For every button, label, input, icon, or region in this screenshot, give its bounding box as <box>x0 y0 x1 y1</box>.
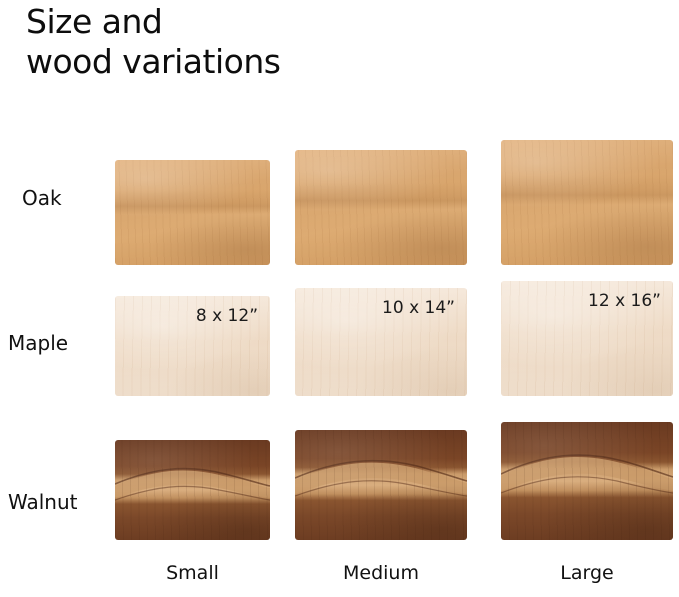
board-maple-medium: 10 x 14” <box>295 288 467 396</box>
walnut-grain-icon <box>295 430 467 540</box>
column-label-large: Large <box>501 562 673 584</box>
walnut-grain-icon <box>115 440 270 540</box>
row-label-maple: Maple <box>8 331 68 355</box>
board-oak-medium <box>295 150 467 265</box>
board-oak-large <box>501 140 673 265</box>
row-label-walnut: Walnut <box>8 490 78 514</box>
row-label-oak: Oak <box>22 186 62 210</box>
board-maple-large: 12 x 16” <box>501 281 673 396</box>
board-walnut-large <box>501 422 673 540</box>
board-oak-small <box>115 160 270 265</box>
column-label-medium: Medium <box>295 562 467 584</box>
size-label-small: 8 x 12” <box>196 306 258 326</box>
walnut-grain-icon <box>501 422 673 540</box>
size-label-medium: 10 x 14” <box>382 298 455 318</box>
board-walnut-small <box>115 440 270 540</box>
size-variation-grid: Oak Maple Walnut 8 x 12” 10 x 14” 12 x 1… <box>0 0 679 597</box>
size-label-large: 12 x 16” <box>588 291 661 311</box>
column-label-small: Small <box>115 562 270 584</box>
board-maple-small: 8 x 12” <box>115 296 270 396</box>
board-walnut-medium <box>295 430 467 540</box>
